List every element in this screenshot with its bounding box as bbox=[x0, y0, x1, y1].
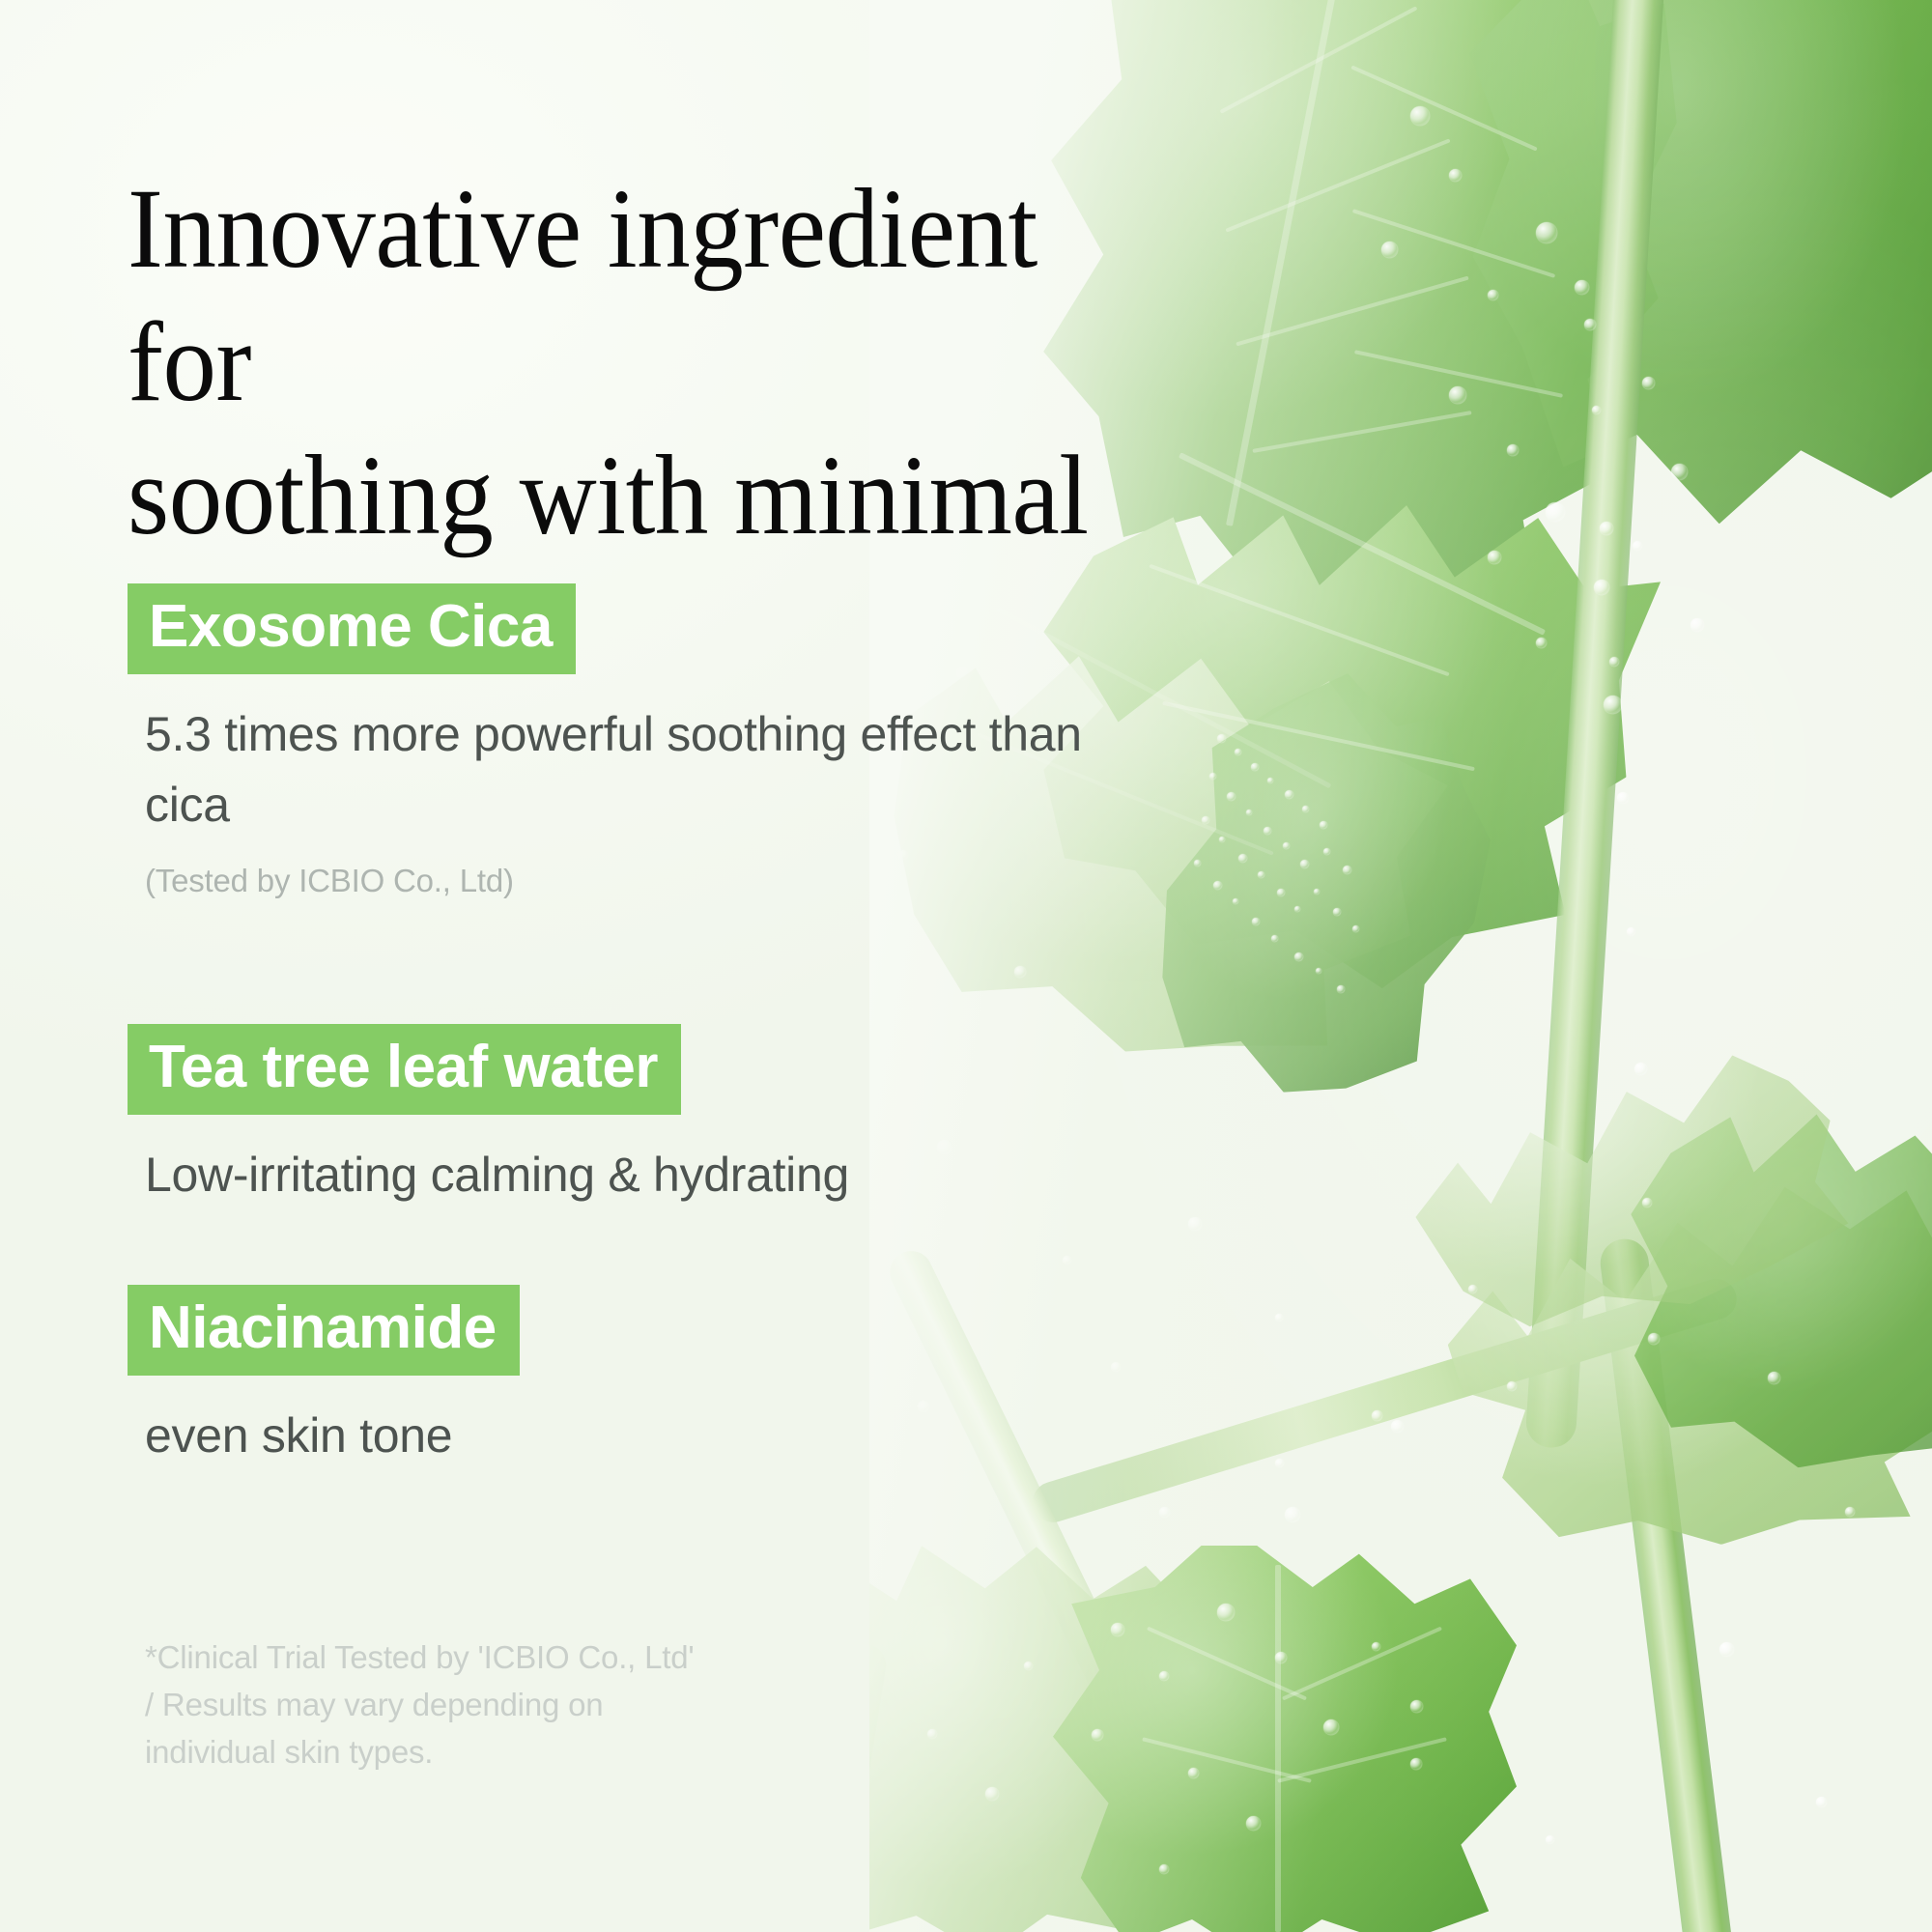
ingredient-tag-tea-tree-leaf-water: Tea tree leaf water bbox=[128, 1024, 681, 1115]
leaf-shape-bottom-right-serrated bbox=[1429, 1115, 1932, 1571]
product-ingredient-poster: Innovative ingredient for soothing with … bbox=[0, 0, 1932, 1932]
poster-text-content: Innovative ingredient for soothing with … bbox=[0, 0, 1207, 1932]
ingredient-block-exosome-cica: Exosome Cica 5.3 times more powerful soo… bbox=[128, 583, 1111, 902]
leaf-shape-bottom-far-right bbox=[1600, 1076, 1932, 1493]
clinical-trial-disclaimer: *Clinical Trial Tested by 'ICBIO Co., Lt… bbox=[145, 1634, 918, 1776]
disclaimer-line-2: / Results may vary depending on bbox=[145, 1682, 918, 1729]
ingredient-block-tea-tree-leaf-water: Tea tree leaf water Low-irritating calmi… bbox=[128, 1024, 849, 1210]
leaf-shape-top-right-edge bbox=[1445, 0, 1932, 540]
disclaimer-line-3: individual skin types. bbox=[145, 1729, 918, 1776]
ingredient-note-exosome-cica: (Tested by ICBIO Co., Ltd) bbox=[145, 861, 1111, 902]
ingredient-block-niacinamide: Niacinamide even skin tone bbox=[128, 1285, 520, 1471]
leaf-shape-upper-bottom-cluster bbox=[1388, 989, 1857, 1349]
stem-main-vertical-lower bbox=[1598, 1236, 1735, 1932]
disclaimer-line-1: *Clinical Trial Tested by 'ICBIO Co., Lt… bbox=[145, 1634, 918, 1682]
headline-line-1: Innovative ingredient for bbox=[128, 165, 1037, 425]
ingredient-description-exosome-cica: 5.3 times more powerful soothing effect … bbox=[145, 699, 1111, 839]
ingredient-description-niacinamide: even skin tone bbox=[145, 1401, 520, 1471]
ingredient-tag-exosome-cica: Exosome Cica bbox=[128, 583, 576, 674]
stem-main-vertical bbox=[1524, 0, 1666, 1449]
ingredient-tag-niacinamide: Niacinamide bbox=[128, 1285, 520, 1376]
ingredient-description-tea-tree-leaf-water: Low-irritating calming & hydrating bbox=[145, 1140, 849, 1210]
